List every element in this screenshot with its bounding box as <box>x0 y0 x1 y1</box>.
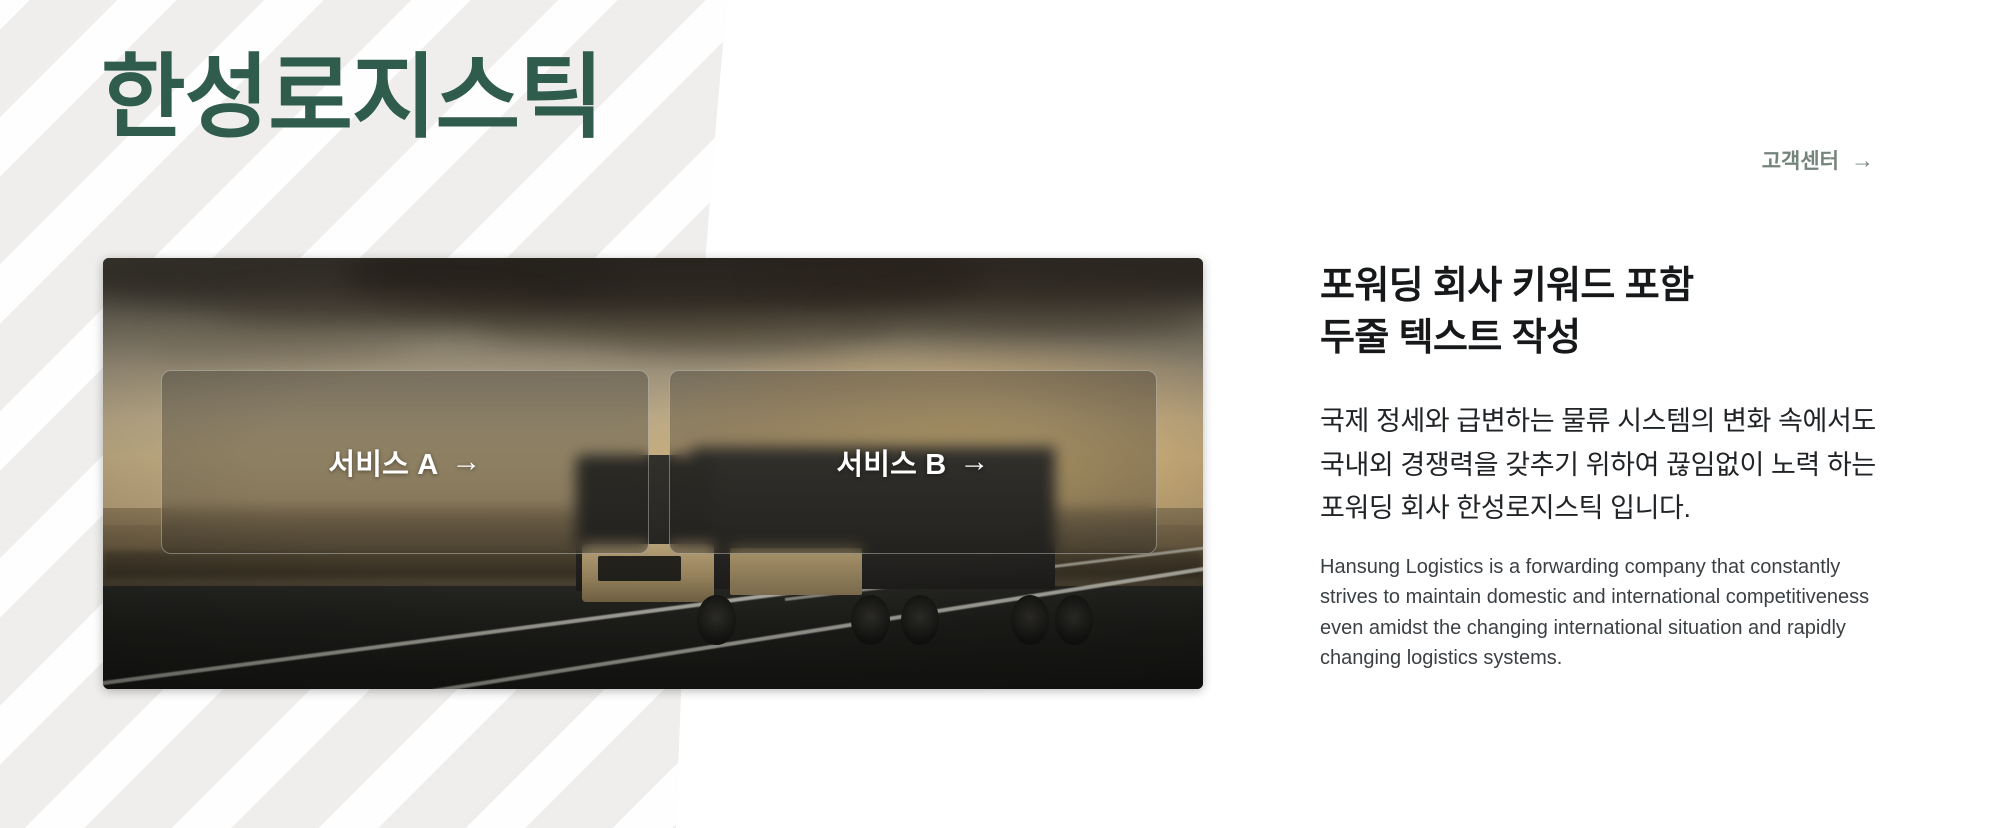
service-a-label: 서비스 A <box>328 441 438 483</box>
lead-paragraph-korean: 국제 정세와 급변하는 물류 시스템의 변화 속에서도 국내외 경쟁력을 갖추기… <box>1320 400 1920 531</box>
section-headline: 포워딩 회사 키워드 포함 두줄 텍스트 작성 <box>1320 260 1693 365</box>
lead-line-3: 포워딩 회사 한성로지스틱 입니다. <box>1320 487 1920 531</box>
service-b-label-group: 서비스 B → <box>836 441 989 483</box>
subcopy-paragraph-english: Hansung Logistics is a forwarding compan… <box>1320 552 1920 674</box>
customer-support-label: 고객센터 <box>1762 145 1839 175</box>
arrow-right-icon: → <box>1851 149 1874 172</box>
hero-image: 서비스 A → 서비스 B → <box>103 258 1203 689</box>
subcopy-line-2: strives to maintain domestic and interna… <box>1320 582 1920 612</box>
service-button-group: 서비스 A → 서비스 B → <box>161 370 1157 554</box>
lead-line-1: 국제 정세와 급변하는 물류 시스템의 변화 속에서도 <box>1320 400 1920 444</box>
headline-line-1: 포워딩 회사 키워드 포함 <box>1320 260 1693 312</box>
service-b-button[interactable]: 서비스 B → <box>669 370 1157 554</box>
subcopy-line-4: changing logistics systems. <box>1320 643 1920 673</box>
page-title: 한성로지스틱 <box>101 46 603 152</box>
headline-line-2: 두줄 텍스트 작성 <box>1320 312 1693 364</box>
arrow-right-icon: → <box>451 447 481 477</box>
customer-support-link[interactable]: 고객센터 → <box>1762 145 1874 175</box>
arrow-right-icon: → <box>959 447 989 477</box>
service-b-label: 서비스 B <box>836 441 946 483</box>
subcopy-line-3: even amidst the changing international s… <box>1320 613 1920 643</box>
service-a-button[interactable]: 서비스 A → <box>161 370 649 554</box>
lead-line-2: 국내외 경쟁력을 갖추기 위하여 끊임없이 노력 하는 <box>1320 444 1920 488</box>
content-column: 고객센터 → 포워딩 회사 키워드 포함 두줄 텍스트 작성 국제 정세와 급변… <box>1320 0 1940 828</box>
subcopy-line-1: Hansung Logistics is a forwarding compan… <box>1320 552 1920 582</box>
service-a-label-group: 서비스 A → <box>328 441 481 483</box>
